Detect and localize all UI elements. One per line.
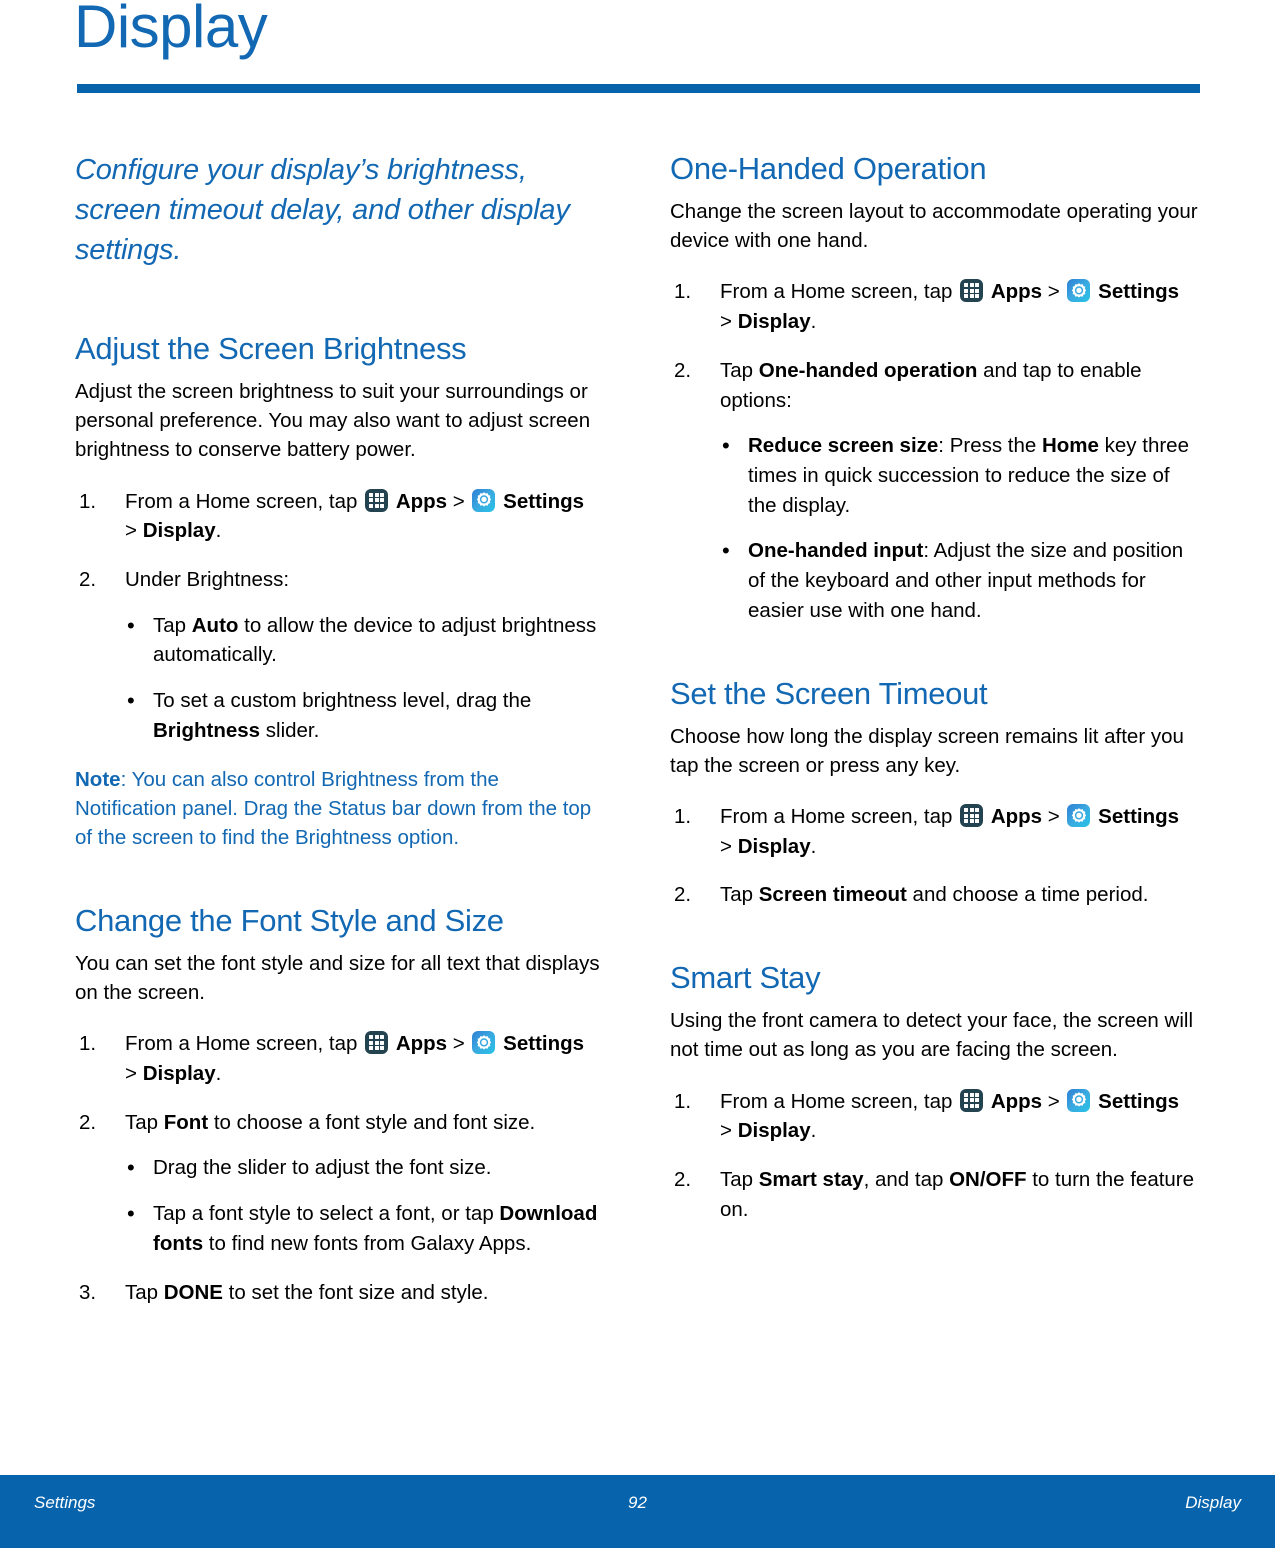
apps-label: Apps (396, 1032, 447, 1055)
apps-label: Apps (396, 490, 447, 513)
step-item: 3.Tap DONE to set the font size and styl… (75, 1278, 605, 1308)
display-label: Display (738, 310, 811, 333)
chevron-separator-2: > (720, 1119, 732, 1142)
step-item: 1.From a Home screen, tap Apps > Setting… (670, 802, 1200, 861)
chevron-separator-2: > (720, 835, 732, 858)
bullet-dot-icon: • (127, 685, 135, 717)
step-number: 1. (79, 1029, 115, 1059)
sub-bullets: •Reduce screen size: Press the Home key … (720, 431, 1200, 625)
display-label: Display (738, 1119, 811, 1142)
bullet-mid: : Press the (938, 434, 1042, 457)
step-bold: Smart stay (759, 1168, 864, 1191)
chevron-separator-2: > (720, 310, 732, 333)
chevron-separator-1: > (1048, 1090, 1060, 1113)
step-post: to choose a font style and font size. (208, 1111, 535, 1134)
chevron-separator-1: > (453, 1032, 465, 1055)
section-intro-screen-timeout: Choose how long the display screen remai… (670, 722, 1200, 780)
bullet-bold: Brightness (153, 719, 260, 742)
step-period: . (811, 310, 817, 333)
chevron-separator-1: > (1048, 280, 1060, 303)
display-label: Display (738, 835, 811, 858)
two-column-body: Configure your display’s brightness, scr… (0, 150, 1275, 1326)
step-number: 1. (79, 487, 115, 517)
display-label: Display (143, 1062, 216, 1085)
right-column: One-Handed Operation Change the screen l… (670, 150, 1200, 1326)
step-pre: Tap (125, 1111, 164, 1134)
section-heading-smart-stay: Smart Stay (670, 959, 1200, 996)
apps-grid-icon (960, 279, 983, 302)
step-number: 2. (79, 1108, 115, 1138)
title-rule (77, 84, 1200, 93)
settings-label: Settings (1098, 805, 1179, 828)
section-intro-one-handed: Change the screen layout to accommodate … (670, 197, 1200, 255)
settings-gear-icon (472, 489, 495, 512)
section-intro-font-style: You can set the font style and size for … (75, 949, 605, 1007)
page-title: Display (74, 0, 267, 61)
step-text: Under Brightness: (125, 568, 289, 591)
step-number: 2. (79, 565, 115, 595)
settings-label: Settings (503, 490, 584, 513)
footer-page-number: 92 (0, 1493, 1275, 1513)
list-item: •To set a custom brightness level, drag … (125, 686, 605, 745)
sub-bullets: •Tap Auto to allow the device to adjust … (125, 611, 605, 746)
step-pre: Tap (720, 1168, 759, 1191)
step-pre: Tap (720, 883, 759, 906)
left-column: Configure your display’s brightness, scr… (75, 150, 605, 1326)
bullet-bold: Auto (192, 614, 239, 637)
page-lede: Configure your display’s brightness, scr… (75, 150, 605, 270)
section-heading-adjust-brightness: Adjust the Screen Brightness (75, 330, 605, 367)
step-text-a: From a Home screen, tap (125, 490, 357, 513)
step-number: 1. (674, 1087, 710, 1117)
step-period: . (216, 519, 222, 542)
step-bold-2: ON/OFF (949, 1168, 1026, 1191)
steps-screen-timeout: 1.From a Home screen, tap Apps > Setting… (670, 802, 1200, 910)
list-item: •One-handed input: Adjust the size and p… (720, 536, 1200, 625)
step-period: . (811, 835, 817, 858)
steps-smart-stay: 1.From a Home screen, tap Apps > Setting… (670, 1087, 1200, 1225)
section-intro-smart-stay: Using the front camera to detect your fa… (670, 1006, 1200, 1064)
step-item: 1.From a Home screen, tap Apps > Setting… (670, 277, 1200, 336)
step-bold: Font (164, 1111, 208, 1134)
settings-gear-icon (1067, 804, 1090, 827)
step-pre: Tap (125, 1281, 164, 1304)
chevron-separator-2: > (125, 1062, 137, 1085)
apps-label: Apps (991, 280, 1042, 303)
list-item: •Tap Auto to allow the device to adjust … (125, 611, 605, 670)
section-heading-font-style: Change the Font Style and Size (75, 902, 605, 939)
section-heading-one-handed: One-Handed Operation (670, 150, 1200, 187)
step-number: 1. (674, 277, 710, 307)
step-number: 3. (79, 1278, 115, 1308)
apps-label: Apps (991, 1090, 1042, 1113)
step-text-a: From a Home screen, tap (720, 280, 952, 303)
list-item: •Drag the slider to adjust the font size… (125, 1153, 605, 1183)
settings-gear-icon (472, 1031, 495, 1054)
bullet-post: slider. (260, 719, 319, 742)
sub-bullets: •Drag the slider to adjust the font size… (125, 1153, 605, 1258)
bullet-dot-icon: • (722, 535, 730, 567)
settings-gear-icon (1067, 279, 1090, 302)
chevron-separator-1: > (1048, 805, 1060, 828)
step-text-a: From a Home screen, tap (720, 1090, 952, 1113)
bullet-bold-2: Home (1042, 434, 1099, 457)
step-item: 1.From a Home screen, tap Apps > Setting… (75, 1029, 605, 1088)
note-label: Note (75, 768, 121, 791)
step-item: 1.From a Home screen, tap Apps > Setting… (670, 1087, 1200, 1146)
steps-adjust-brightness: 1.From a Home screen, tap Apps > Setting… (75, 487, 605, 746)
bullet-pre: Tap (153, 614, 192, 637)
settings-label: Settings (1098, 1090, 1179, 1113)
apps-label: Apps (991, 805, 1042, 828)
step-text-a: From a Home screen, tap (125, 1032, 357, 1055)
step-bold: Screen timeout (759, 883, 907, 906)
apps-grid-icon (960, 1089, 983, 1112)
note-block: Note: You can also control Brightness fr… (75, 765, 605, 852)
step-period: . (216, 1062, 222, 1085)
step-number: 2. (674, 1165, 710, 1195)
apps-grid-icon (365, 1031, 388, 1054)
apps-grid-icon (365, 489, 388, 512)
step-item: 2.Tap Font to choose a font style and fo… (75, 1108, 605, 1259)
section-intro-adjust-brightness: Adjust the screen brightness to suit you… (75, 377, 605, 464)
step-text-a: From a Home screen, tap (720, 805, 952, 828)
step-bold: One-handed operation (759, 359, 978, 382)
settings-label: Settings (1098, 280, 1179, 303)
bullet-pre: Drag the slider to adjust the font size. (153, 1156, 491, 1179)
steps-font-style: 1.From a Home screen, tap Apps > Setting… (75, 1029, 605, 1307)
settings-gear-icon (1067, 1089, 1090, 1112)
step-mid: , and tap (864, 1168, 949, 1191)
step-number: 2. (674, 880, 710, 910)
step-item: 2.Tap One-handed operation and tap to en… (670, 356, 1200, 626)
note-body: : You can also control Brightness from t… (75, 768, 591, 849)
step-number: 1. (674, 802, 710, 832)
step-post: to set the font size and style. (223, 1281, 489, 1304)
display-label: Display (143, 519, 216, 542)
step-number: 2. (674, 356, 710, 386)
bullet-bold-1: One-handed input (748, 539, 923, 562)
settings-label: Settings (503, 1032, 584, 1055)
list-item: •Reduce screen size: Press the Home key … (720, 431, 1200, 520)
bullet-dot-icon: • (127, 610, 135, 642)
bullet-pre: To set a custom brightness level, drag t… (153, 689, 531, 712)
page-footer: Settings 92 Display (0, 1475, 1275, 1548)
step-pre: Tap (720, 359, 759, 382)
list-item: •Tap a font style to select a font, or t… (125, 1199, 605, 1258)
step-period: . (811, 1119, 817, 1142)
bullet-bold-1: Reduce screen size (748, 434, 938, 457)
chevron-separator-2: > (125, 519, 137, 542)
bullet-post: to find new fonts from Galaxy Apps. (203, 1232, 531, 1255)
section-heading-screen-timeout: Set the Screen Timeout (670, 675, 1200, 712)
apps-grid-icon (960, 804, 983, 827)
step-item: 2.Tap Screen timeout and choose a time p… (670, 880, 1200, 910)
step-item: 1.From a Home screen, tap Apps > Setting… (75, 487, 605, 546)
bullet-dot-icon: • (127, 1198, 135, 1230)
bullet-dot-icon: • (127, 1152, 135, 1184)
chevron-separator-1: > (453, 490, 465, 513)
bullet-pre: Tap a font style to select a font, or ta… (153, 1202, 499, 1225)
bullet-dot-icon: • (722, 430, 730, 462)
step-bold: DONE (164, 1281, 223, 1304)
step-item: 2.Under Brightness: •Tap Auto to allow t… (75, 565, 605, 746)
footer-right-label: Display (1185, 1493, 1241, 1513)
step-item: 2.Tap Smart stay, and tap ON/OFF to turn… (670, 1165, 1200, 1224)
step-post: and choose a time period. (907, 883, 1149, 906)
steps-one-handed: 1.From a Home screen, tap Apps > Setting… (670, 277, 1200, 625)
